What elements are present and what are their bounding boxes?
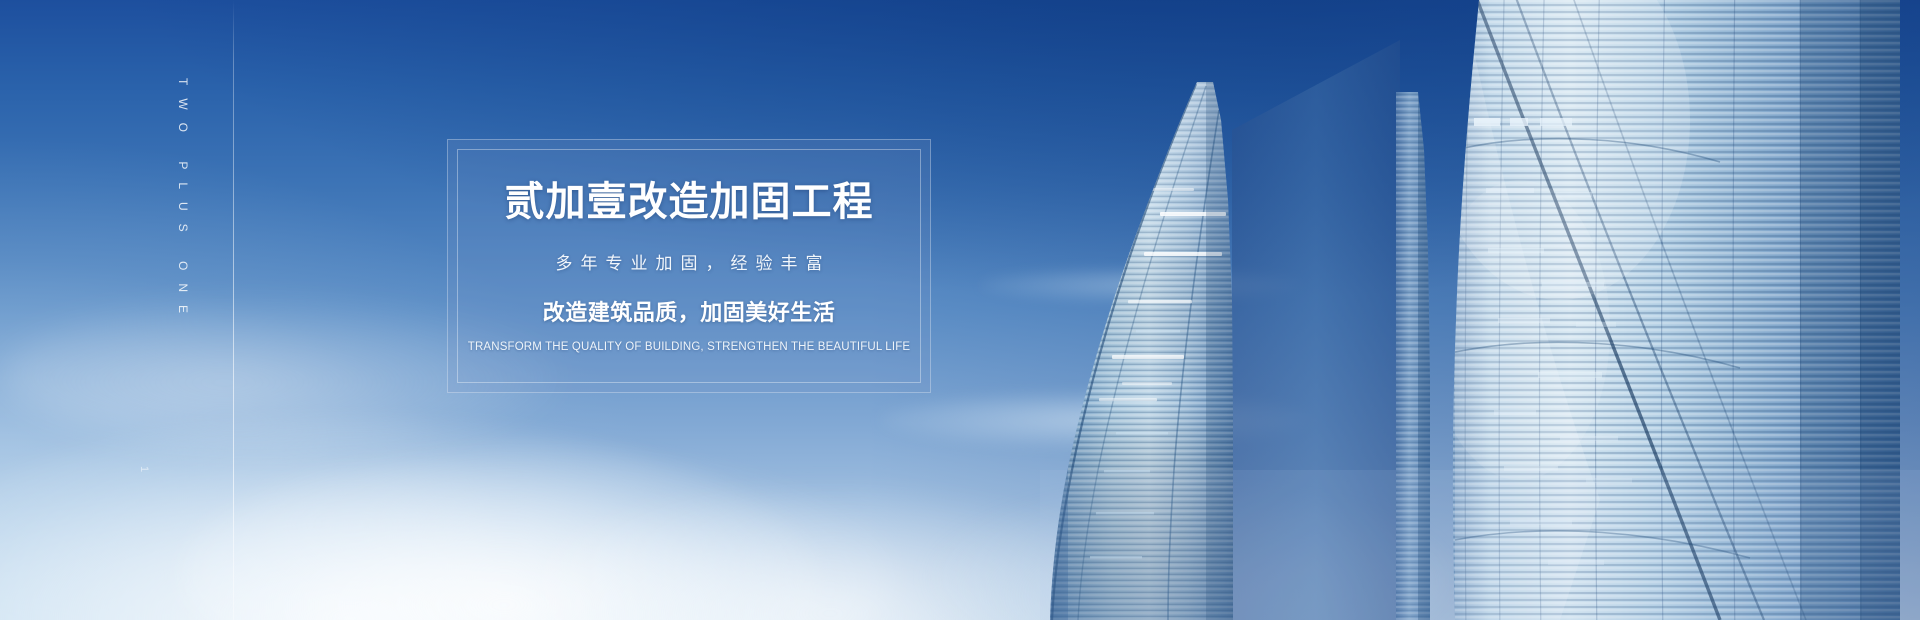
left-divider-line bbox=[233, 0, 234, 620]
hero-subtitle: 多年专业加固，经验丰富 bbox=[548, 249, 831, 274]
sky-right-shade-overlay bbox=[0, 0, 1920, 620]
hero-banner: TWO PLUS ONE 1 贰加壹改造加固工程 多年专业加固，经验丰富 改造建… bbox=[0, 0, 1920, 620]
hero-slogan: 改造建筑品质，加固美好生活 bbox=[543, 295, 836, 327]
hero-english-tagline: TRANSFORM THE QUALITY OF BUILDING, STREN… bbox=[468, 341, 910, 353]
page-title: 贰加壹改造加固工程 bbox=[505, 181, 874, 223]
vertical-brand-text: TWO PLUS ONE bbox=[176, 78, 190, 326]
hero-text-panel-content: 贰加壹改造加固工程 多年专业加固，经验丰富 改造建筑品质，加固美好生活 TRAN… bbox=[447, 139, 931, 393]
slide-number-label: 1 bbox=[138, 466, 150, 475]
